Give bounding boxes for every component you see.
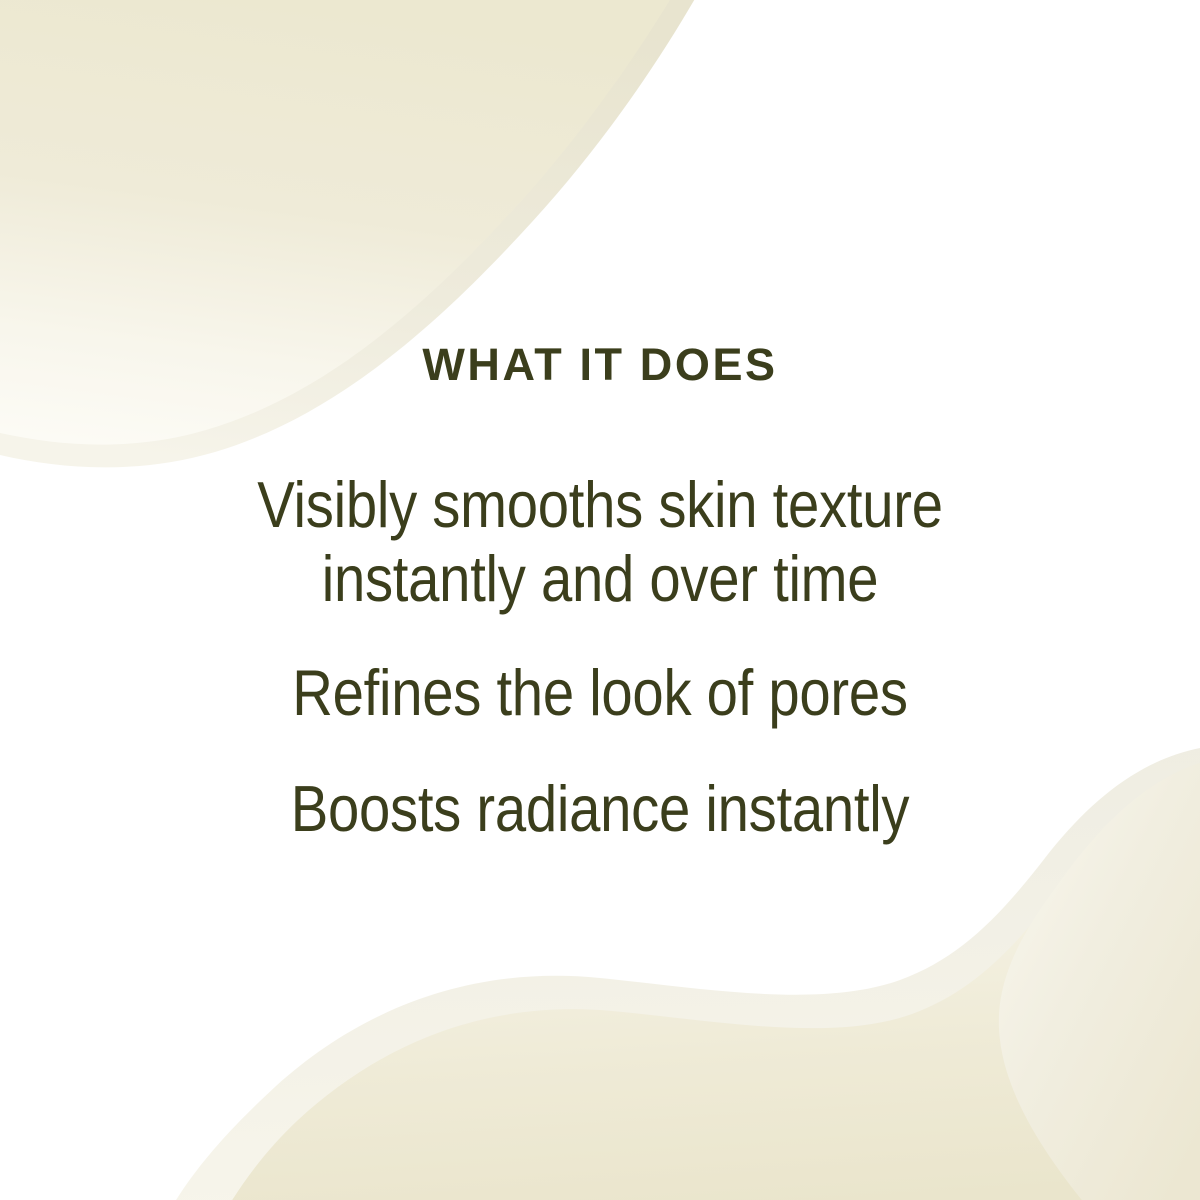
page-title: WHAT IT DOES (0, 342, 1200, 387)
product-benefits-card: WHAT IT DOES Visibly smooths skin textur… (0, 0, 1200, 1200)
benefit-item: Visibly smooths skin texture instantly a… (81, 468, 1119, 616)
content-block: WHAT IT DOES Visibly smooths skin textur… (0, 0, 1200, 1200)
benefit-item: Refines the look of pores (81, 656, 1119, 730)
benefit-list: Visibly smooths skin texture instantly a… (0, 468, 1200, 846)
benefit-item: Boosts radiance instantly (81, 772, 1119, 846)
